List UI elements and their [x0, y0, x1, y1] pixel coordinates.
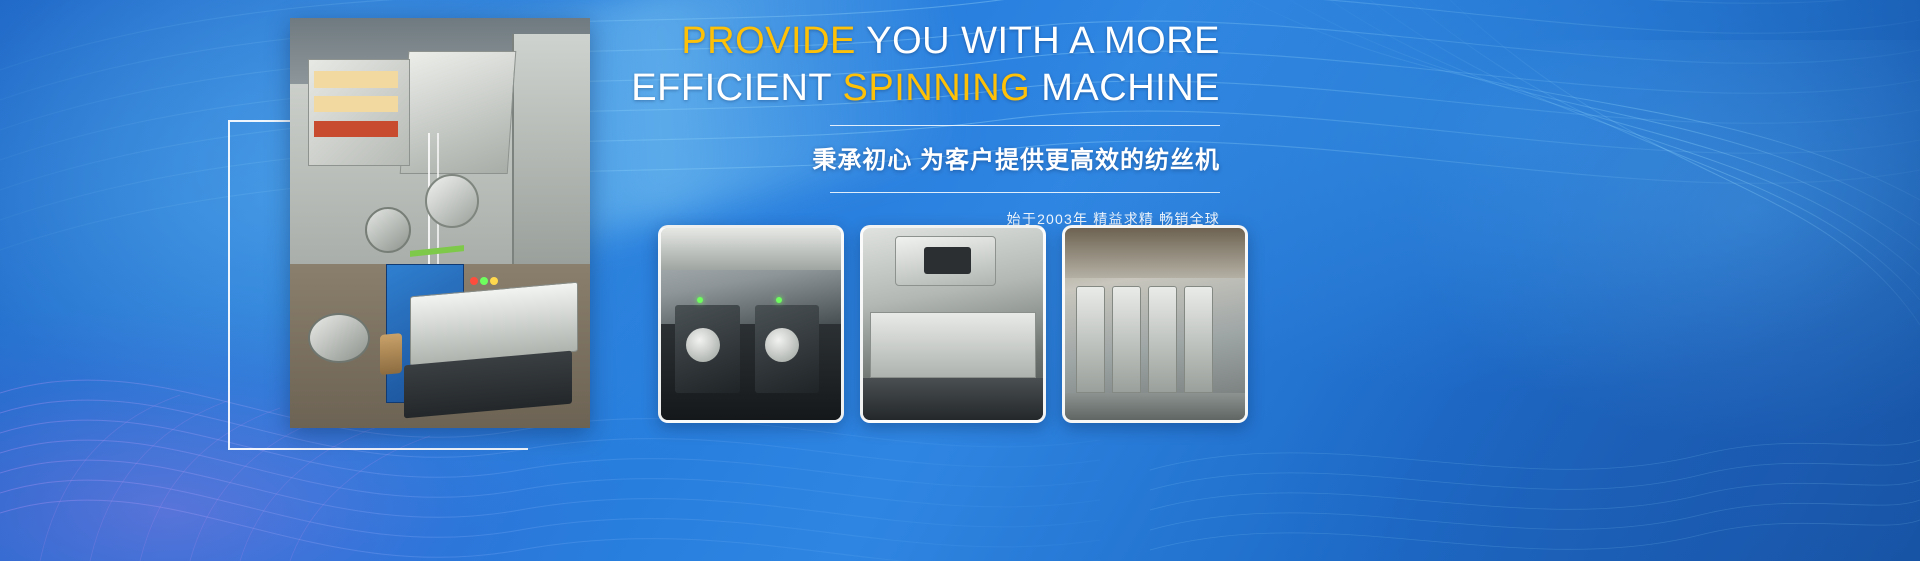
subtitle-chinese: 秉承初心 为客户提供更高效的纺丝机: [600, 140, 1220, 175]
divider-top: [830, 125, 1220, 126]
headline-line1-highlight: PROVIDE: [681, 20, 856, 62]
spinning-machine-main-photo: [290, 18, 590, 428]
headline-line2-part1: EFFICIENT: [631, 67, 842, 109]
headline: PROVIDE YOU WITH A MORE EFFICIENT SPINNI…: [600, 22, 1220, 107]
glow-right: [1380, 40, 1920, 460]
hero-banner: PROVIDE YOU WITH A MORE EFFICIENT SPINNI…: [0, 0, 1920, 561]
banner-copy: PROVIDE YOU WITH A MORE EFFICIENT SPINNI…: [600, 22, 1220, 229]
headline-line2-part3: MACHINE: [1030, 67, 1220, 109]
divider-bottom: [830, 192, 1220, 193]
headline-line1-rest: YOU WITH A MORE: [856, 20, 1220, 62]
thumbnail-production-line[interactable]: [860, 225, 1046, 423]
headline-line2-highlight: SPINNING: [843, 67, 1031, 109]
thumbnail-spinning-tanks[interactable]: [1062, 225, 1248, 423]
thumbnail-winding-machines[interactable]: [658, 225, 844, 423]
thumbnail-row: [658, 225, 1248, 423]
